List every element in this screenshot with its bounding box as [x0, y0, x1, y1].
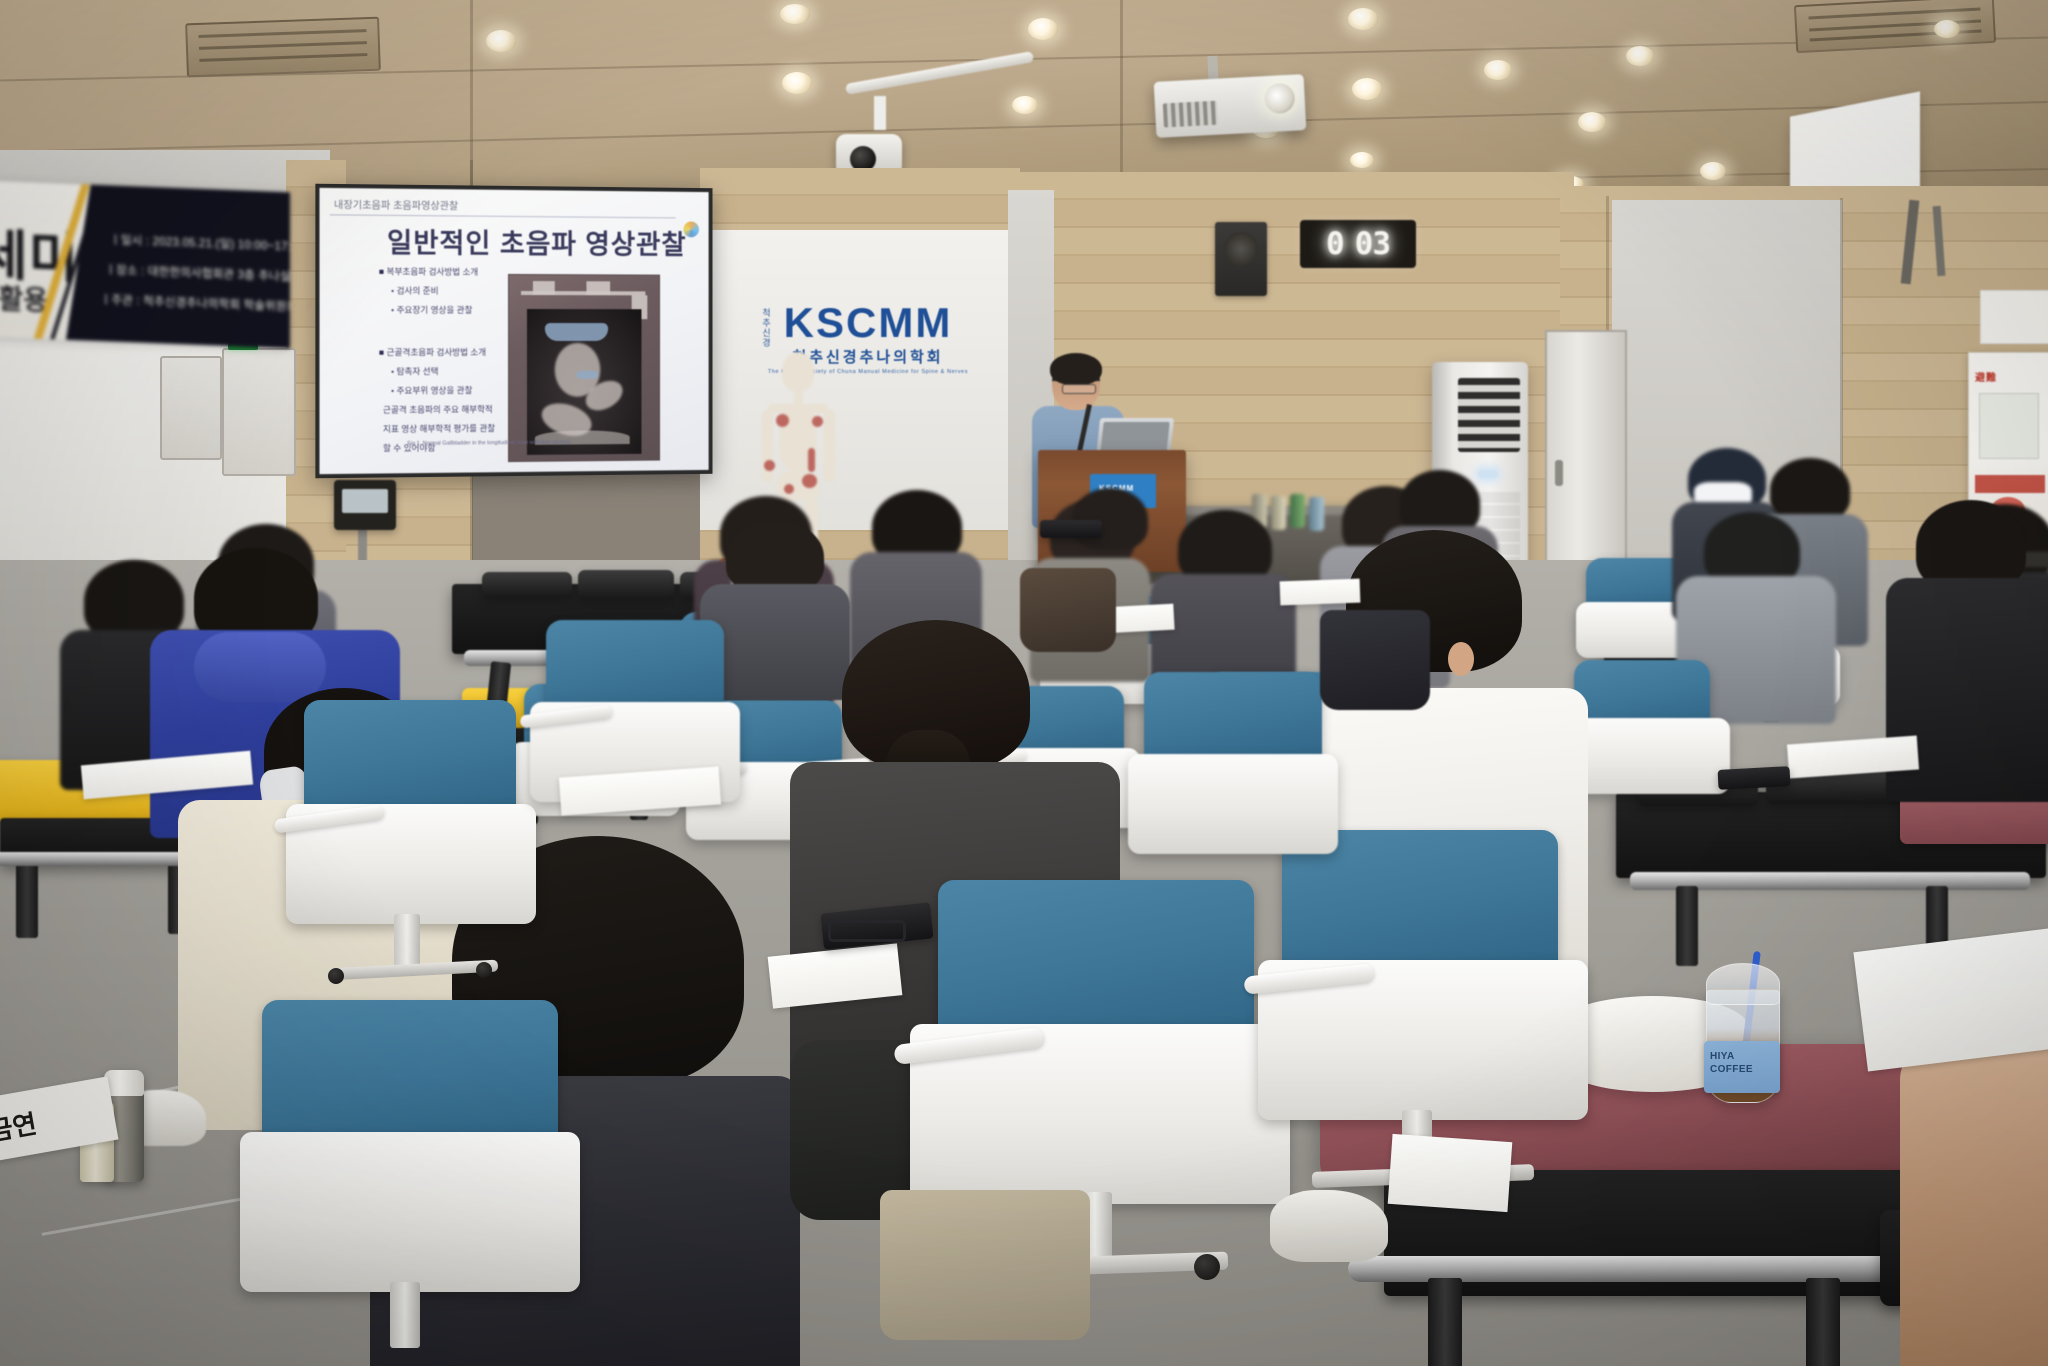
seminar-banner: 세미나 파 활용 ㅣ일시 : 2023.05.21.(일) 10:00~17:0… — [0, 180, 290, 349]
ceiling-light — [1012, 96, 1038, 114]
ceiling-light — [1934, 20, 1960, 38]
ceiling-vent — [185, 17, 381, 78]
cup-dome-lid — [1706, 963, 1780, 1005]
banner-info-panel: ㅣ일시 : 2023.05.21.(일) 10:00~17:00 ㅣ장소 : 대… — [64, 180, 290, 349]
cup-sleeve: HIYACOFFEE — [1704, 1041, 1780, 1093]
wall-notice-board — [160, 356, 222, 460]
slide-header-rule — [330, 214, 676, 218]
eyeglasses-icon — [828, 920, 906, 942]
ceiling-light — [782, 72, 812, 94]
ceiling-projector — [1154, 74, 1307, 138]
presenter-hair — [1050, 353, 1102, 385]
floor-sign-text: 금연 — [0, 1104, 39, 1149]
chair[interactable] — [530, 620, 740, 870]
slide-logo-icon — [683, 221, 699, 237]
handout-paper — [1853, 929, 2048, 1072]
ceiling-light — [780, 4, 810, 24]
attendee-bottom-right — [1900, 1040, 2048, 1366]
shoe — [1270, 1190, 1388, 1262]
ceiling-light — [486, 30, 516, 52]
ceiling-light — [1484, 60, 1512, 80]
slide-ultrasound-image — [508, 274, 660, 462]
backpack — [1320, 610, 1430, 710]
clock-digit-left: 0 — [1326, 226, 1344, 262]
countdown-clock-display: 0 03 — [1300, 220, 1416, 268]
slide-title: 일반적인 초음파 영상관찰 — [387, 221, 687, 262]
projector-vent — [1163, 101, 1218, 128]
kscmm-side-text: 척추신경 — [760, 308, 773, 348]
chair-foreground[interactable] — [240, 1000, 580, 1360]
seminar-photo-scene: 세미나 파 활용 ㅣ일시 : 2023.05.21.(일) 10:00~17:0… — [0, 0, 2048, 1366]
cup-brand-text: HIYACOFFEE — [1710, 1051, 1753, 1076]
presentation-slide: 내장기초음파 초음파영상관찰 일반적인 초음파 영상관찰 복부초음파 검사방법 … — [319, 188, 708, 474]
glasses-icon — [1062, 384, 1096, 394]
poster-title: 避難 — [1975, 369, 1997, 384]
iced-coffee-cup: HIYACOFFEE — [1700, 955, 1784, 1105]
chair[interactable] — [286, 700, 536, 1000]
phone-device[interactable] — [1040, 520, 1102, 538]
wall-speaker — [1215, 222, 1267, 296]
ceiling-light — [1348, 8, 1378, 30]
ceiling-light — [1626, 46, 1654, 66]
door-handle[interactable] — [1555, 460, 1563, 486]
ceiling-light — [1028, 18, 1058, 40]
ac-grille — [1458, 378, 1520, 452]
banner-line-venue: ㅣ장소 : 대한한의사협회관 3층 추나실 — [105, 261, 290, 284]
projector-lens-icon — [1264, 83, 1296, 115]
ceiling-light — [1700, 162, 1726, 180]
backpack — [1020, 568, 1116, 652]
kscmm-abbreviation: KSCMM — [784, 302, 953, 344]
tote-bag — [880, 1190, 1090, 1340]
ceiling-light — [1352, 78, 1382, 100]
projection-screen: 내장기초음파 초음파영상관찰 일반적인 초음파 영상관찰 복부초음파 검사방법 … — [315, 184, 712, 479]
phone-device[interactable] — [1718, 766, 1791, 790]
wall-notice-board — [222, 348, 296, 476]
handout-paper — [1388, 1134, 1513, 1212]
ceiling-light — [1350, 152, 1374, 168]
banner-line-host: ㅣ주관 : 척추신경추나의학회 학술위원회 — [101, 291, 290, 315]
banner-line-date: ㅣ일시 : 2023.05.21.(일) 10:00~17:00 — [110, 231, 290, 254]
ceiling-seam — [1120, 0, 1123, 176]
wall-monitor — [334, 480, 396, 530]
wall-poster-upper — [1980, 290, 2048, 344]
slide-header: 내장기초음파 초음파영상관찰 — [334, 196, 458, 212]
ceiling-light — [1578, 112, 1606, 132]
clock-digit-right: 03 — [1355, 226, 1390, 262]
chair[interactable] — [1128, 672, 1338, 922]
handout-paper — [1280, 579, 1361, 606]
